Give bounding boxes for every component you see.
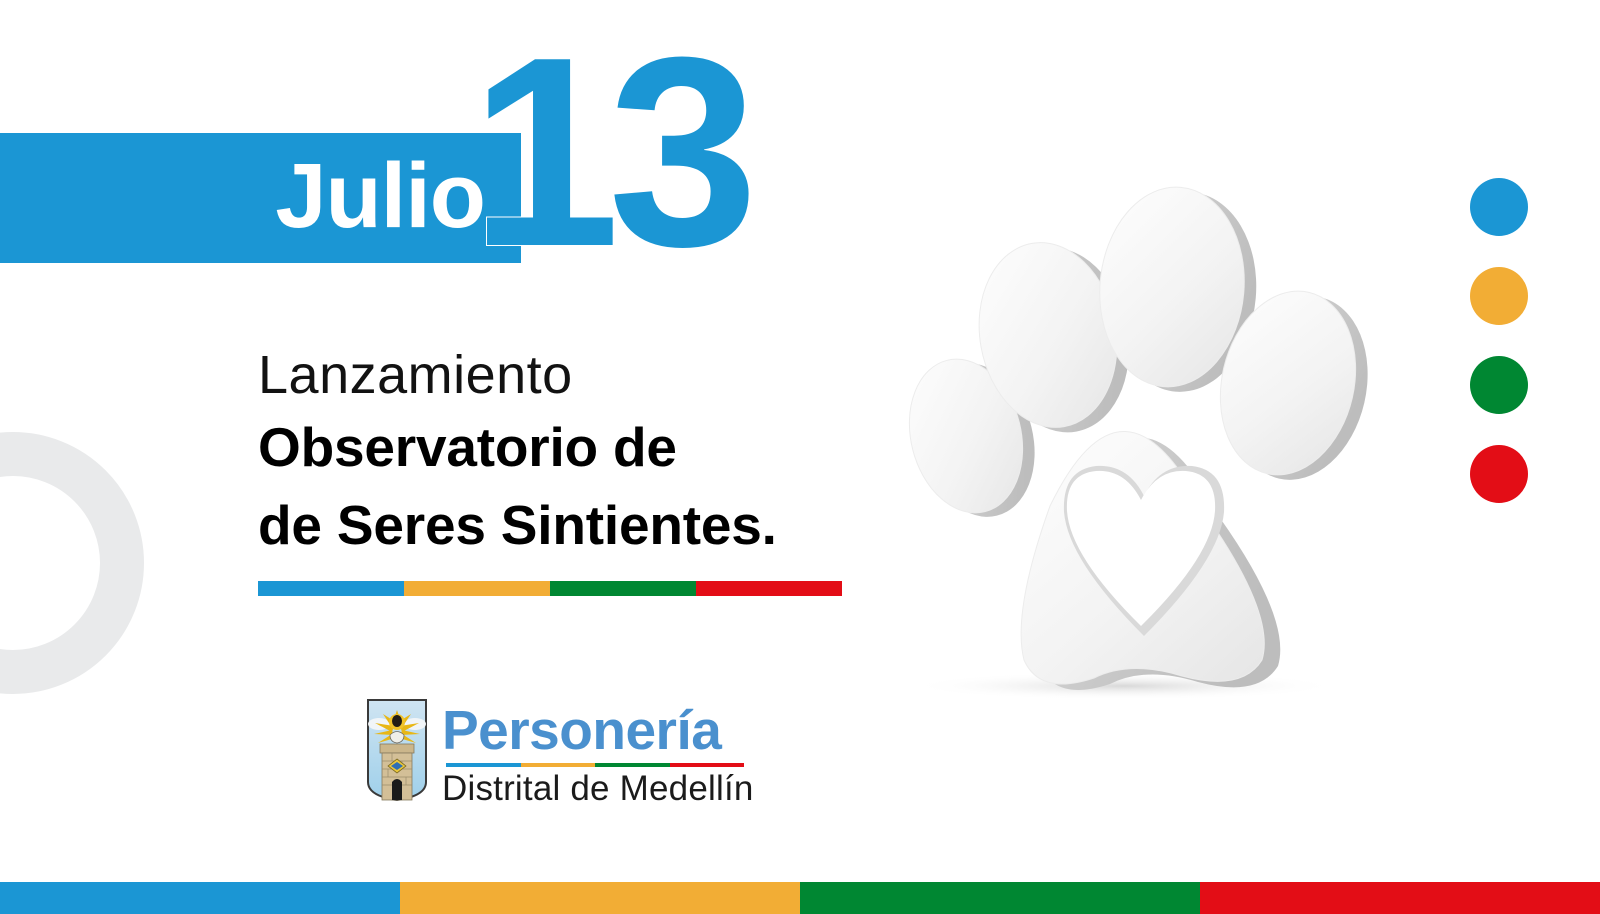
logo-subtitle: Distrital de Medellín bbox=[442, 771, 754, 808]
headline-line-2: de Seres Sintientes. bbox=[258, 486, 898, 564]
logo-rule-segment-amber bbox=[521, 763, 596, 767]
footer-segment-green bbox=[800, 882, 1200, 914]
headline-kicker: Lanzamiento bbox=[258, 344, 898, 408]
logo-rule-segment-green bbox=[595, 763, 670, 767]
accent-rule-segment-blue bbox=[258, 581, 404, 596]
date-day-number: 13 bbox=[470, 18, 746, 288]
logo-rule-segment-blue bbox=[446, 763, 521, 767]
logo-accent-rule bbox=[446, 763, 744, 767]
date-banner-bar: Julio bbox=[0, 133, 521, 263]
headline-line-1: Observatorio de bbox=[258, 408, 898, 486]
logo-rule-segment-red bbox=[670, 763, 745, 767]
footer-segment-red bbox=[1200, 882, 1600, 914]
color-dots-column bbox=[1470, 178, 1528, 503]
personeria-logo: Personería Distrital de Medellín bbox=[366, 698, 754, 808]
logo-text-block: Personería Distrital de Medellín bbox=[442, 698, 754, 808]
logo-title: Personería bbox=[442, 704, 754, 756]
dot-green bbox=[1470, 356, 1528, 414]
medellin-coat-of-arms-icon bbox=[366, 698, 428, 802]
accent-rule-segment-green bbox=[550, 581, 696, 596]
date-month-label: Julio bbox=[275, 150, 485, 242]
left-circle-outline-decoration bbox=[0, 432, 144, 694]
footer-accent-bar bbox=[0, 882, 1600, 914]
accent-rule-segment-amber bbox=[404, 581, 550, 596]
dot-red bbox=[1470, 445, 1528, 503]
accent-rule-segment-red bbox=[696, 581, 842, 596]
dot-blue bbox=[1470, 178, 1528, 236]
footer-segment-blue bbox=[0, 882, 400, 914]
poster-canvas: Julio 13 Lanzamiento Observatorio de de … bbox=[0, 0, 1600, 914]
footer-segment-amber bbox=[400, 882, 800, 914]
headline-accent-rule bbox=[258, 581, 842, 596]
paw-print-with-heart-icon bbox=[862, 140, 1402, 710]
headline-block: Lanzamiento Observatorio de de Seres Sin… bbox=[258, 344, 898, 596]
dot-amber bbox=[1470, 267, 1528, 325]
